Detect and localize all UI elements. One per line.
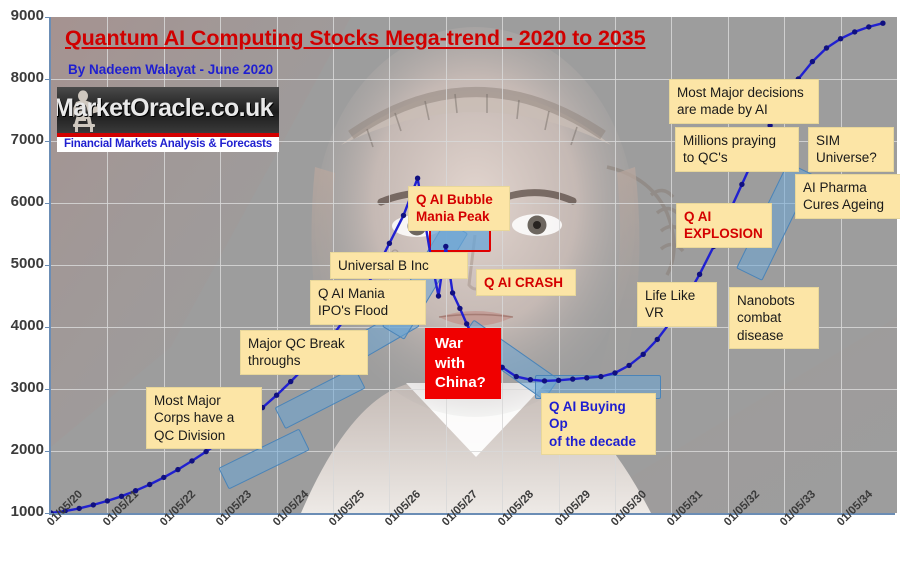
series-marker xyxy=(175,467,180,472)
series-marker xyxy=(77,506,82,511)
logo-bar: MarketOracle.co.uk xyxy=(57,87,279,133)
callout-q-ai-explosion: Q AI EXPLOSION xyxy=(676,203,772,248)
callout-war-with-china: War with China? xyxy=(425,328,501,399)
y-axis-tick-label: 4000 xyxy=(0,317,44,334)
callout-q-ai-buying-op: Q AI Buying Op of the decade xyxy=(541,393,656,455)
series-marker xyxy=(203,449,208,454)
callout-q-ai-crash: Q AI CRASH xyxy=(476,269,576,296)
series-marker xyxy=(436,293,441,298)
series-marker xyxy=(824,45,829,50)
series-marker xyxy=(584,375,589,380)
series-marker xyxy=(655,337,660,342)
y-axis-tick-label: 5000 xyxy=(0,255,44,272)
logo-text: MarketOracle.co.uk xyxy=(57,94,273,123)
series-marker xyxy=(542,378,547,383)
y-axis-tick-label: 1000 xyxy=(0,503,44,520)
marketoracle-logo[interactable]: MarketOracle.co.uk Financial Markets Ana… xyxy=(57,87,279,152)
series-marker xyxy=(838,36,843,41)
series-marker xyxy=(189,458,194,463)
series-marker xyxy=(598,374,603,379)
callout-millions-praying: Millions praying to QC's xyxy=(675,127,799,172)
chart-screenshot: 100020003000400050006000700080009000 xyxy=(0,0,900,567)
logo-tagline: Financial Markets Analysis & Forecasts xyxy=(57,137,279,152)
callout-major-qc-breakthroughs: Major QC Break throughs xyxy=(240,330,368,375)
series-marker xyxy=(641,352,646,357)
callout-ai-pharma-cures-ageing: AI Pharma Cures Ageing xyxy=(795,174,900,219)
series-marker xyxy=(288,379,293,384)
series-marker xyxy=(387,241,392,246)
callout-most-major-decisions: Most Major decisions are made by AI xyxy=(669,79,819,124)
series-marker xyxy=(91,502,96,507)
series-marker xyxy=(626,363,631,368)
series-marker xyxy=(697,272,702,277)
y-axis-tick-label: 7000 xyxy=(0,131,44,148)
callout-sim-universe: SIM Universe? xyxy=(808,127,894,172)
y-axis-tick-label: 3000 xyxy=(0,379,44,396)
series-marker xyxy=(161,475,166,480)
callout-nanobots-combat-disease: Nanobots combat disease xyxy=(729,287,819,349)
series-marker xyxy=(556,378,561,383)
series-marker xyxy=(528,377,533,382)
callout-universal-b-inc: Universal B Inc xyxy=(330,252,468,279)
callout-q-ai-mania-ipos: Q AI Mania IPO's Flood xyxy=(310,280,426,325)
series-marker xyxy=(810,59,815,64)
series-marker xyxy=(464,321,469,326)
series-marker xyxy=(866,24,871,29)
series-marker xyxy=(514,374,519,379)
byline: By Nadeem Walayat - June 2020 xyxy=(68,62,273,77)
series-marker xyxy=(570,376,575,381)
series-marker xyxy=(147,482,152,487)
series-marker xyxy=(450,290,455,295)
y-axis-tick-label: 6000 xyxy=(0,193,44,210)
series-marker xyxy=(739,182,744,187)
series-marker xyxy=(274,393,279,398)
series-marker xyxy=(443,244,448,249)
series-marker xyxy=(415,176,420,181)
series-marker xyxy=(852,29,857,34)
y-axis-tick-label: 9000 xyxy=(0,7,44,24)
series-marker xyxy=(457,306,462,311)
callout-most-major-corps: Most Major Corps have a QC Division xyxy=(146,387,262,449)
series-marker xyxy=(401,213,406,218)
callout-q-ai-bubble-mania-peak: Q AI Bubble Mania Peak xyxy=(408,186,510,231)
y-axis-tick-label: 2000 xyxy=(0,441,44,458)
y-axis-tick-label: 8000 xyxy=(0,69,44,86)
page-title: Quantum AI Computing Stocks Mega-trend -… xyxy=(65,26,645,51)
callout-life-like-vr: Life Like VR xyxy=(637,282,717,327)
series-marker xyxy=(105,498,110,503)
series-marker xyxy=(880,21,885,26)
series-marker xyxy=(612,370,617,375)
